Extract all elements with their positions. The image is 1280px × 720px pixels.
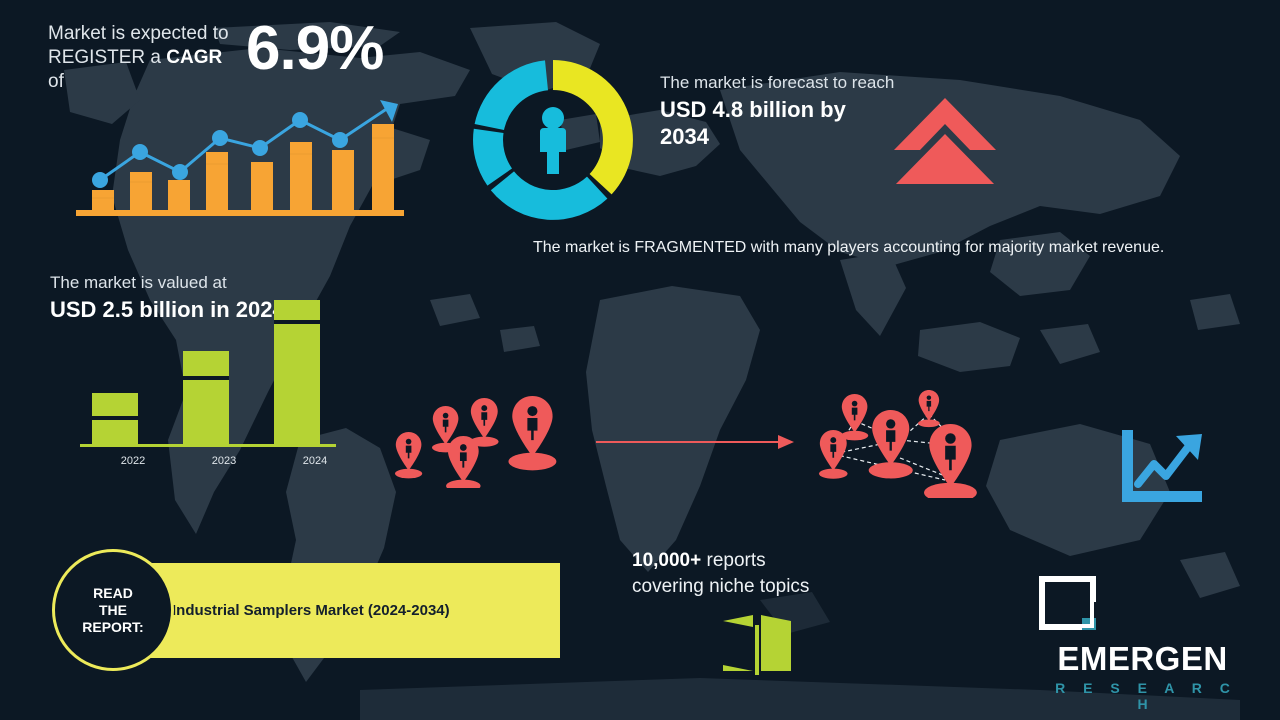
cagr-line2-pre: REGISTER a — [48, 47, 166, 68]
map-pin-person-icon — [470, 398, 499, 447]
map-pin-network-group — [805, 388, 1010, 498]
cagr-line2-bold: CAGR — [166, 47, 222, 68]
market-value-bars — [80, 300, 336, 447]
square-outline-mark — [1035, 572, 1100, 634]
map-pin-person-icon — [508, 396, 556, 470]
cagr-line1: Market is expected to — [48, 23, 229, 44]
forecast-lead: The market is forecast to reach — [660, 72, 900, 94]
fragmented-statement: The market is FRAGMENTED with many playe… — [533, 236, 1223, 260]
map-pin-person-icon — [446, 436, 481, 488]
double-chevron-up-icon — [890, 96, 1000, 184]
market-share-donut-chart — [468, 55, 638, 225]
map-pin-person-icon — [869, 410, 913, 478]
map-pin-person-icon — [819, 430, 848, 479]
map-pin-group-scattered — [385, 388, 580, 488]
growth-chart-bars — [76, 124, 404, 216]
right-arrow-icon — [596, 430, 796, 454]
open-book-icon — [719, 609, 795, 677]
person-icon — [540, 107, 566, 174]
read-report-circle[interactable]: READTHEREPORT: — [52, 549, 174, 671]
bar-xtick-2024: 2024 — [262, 455, 368, 467]
map-pin-person-icon — [395, 432, 422, 478]
infographic-canvas: Market is expected to REGISTER a CAGR of… — [0, 0, 1280, 720]
logo-wordmark: EMERGEN — [1035, 641, 1250, 677]
cagr-value: 6.9% — [246, 18, 383, 80]
map-pin-person-icon — [924, 424, 977, 498]
emergen-research-logo: EMERGEN R E S E A R C H — [1035, 572, 1250, 712]
reports-line2: covering niche topics — [632, 576, 809, 597]
cagr-label: Market is expected to REGISTER a CAGR of — [48, 18, 238, 94]
read-report-label: READTHEREPORT: — [82, 585, 143, 636]
reports-count-block: 10,000+ reports covering niche topics — [632, 548, 892, 600]
growth-chart-icon-blue — [1118, 428, 1210, 510]
map-pin-person-icon — [841, 394, 868, 440]
valuation-lead: The market is valued at — [50, 272, 310, 294]
read-report-bar[interactable]: Industrial Samplers Market (2024-2034) — [110, 563, 560, 658]
logo-subtitle: R E S E A R C H — [1035, 680, 1250, 712]
reports-count: 10,000+ — [632, 550, 701, 571]
growth-chart-icon — [62, 86, 412, 226]
market-value-bar-chart — [80, 292, 340, 452]
forecast-stat: USD 4.8 billion by 2034 — [660, 96, 900, 150]
forecast-block: The market is forecast to reach USD 4.8 … — [660, 72, 900, 150]
reports-word: reports — [701, 550, 765, 571]
map-pin-person-icon — [918, 390, 940, 427]
report-title: Industrial Samplers Market (2024-2034) — [172, 602, 450, 619]
